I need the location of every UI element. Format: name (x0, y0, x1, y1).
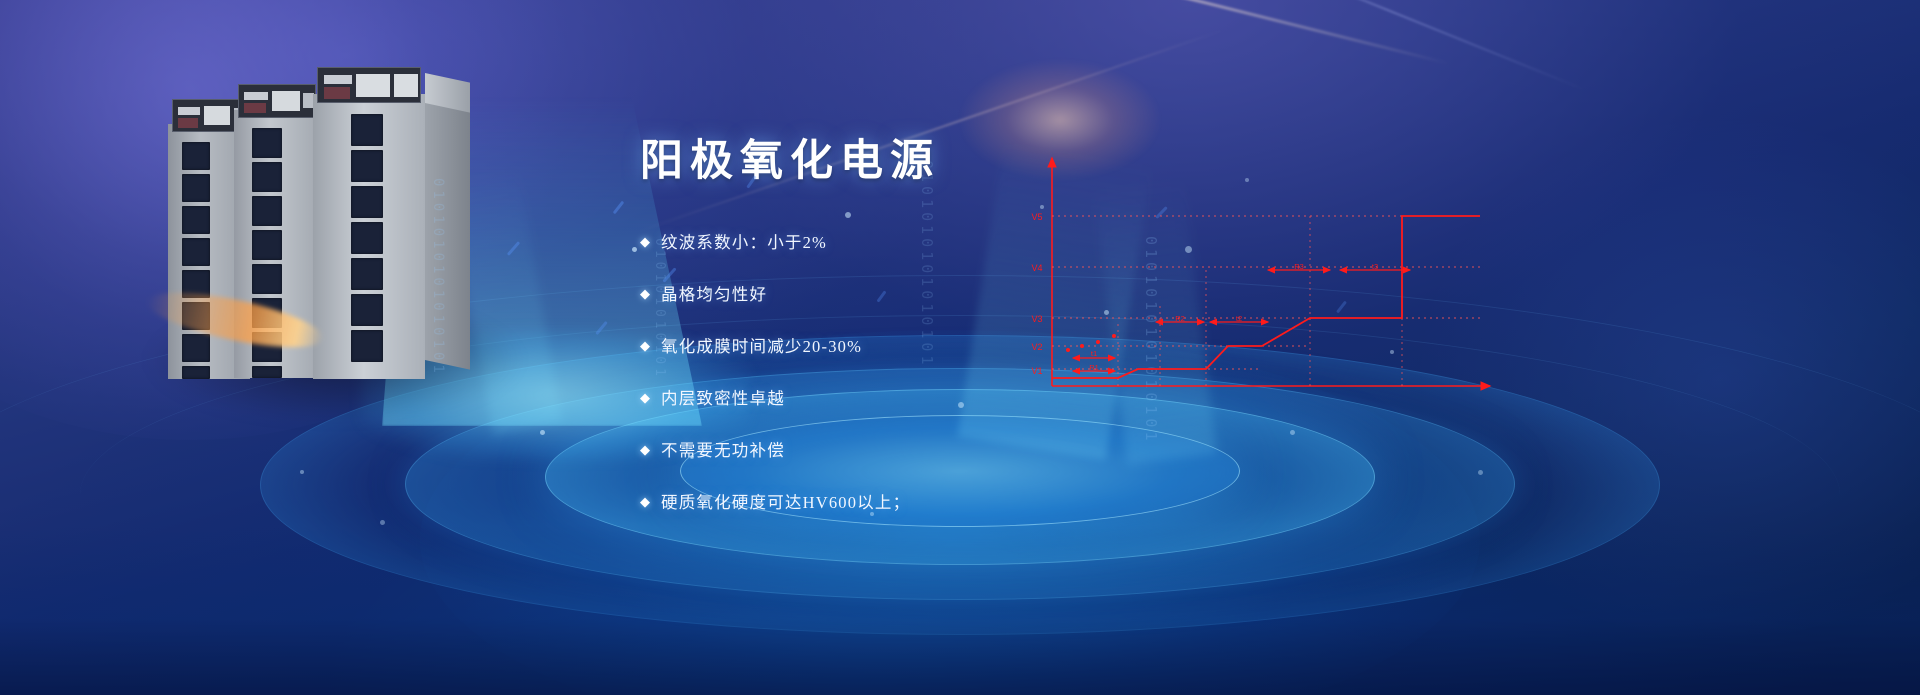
vent-grill (351, 330, 383, 362)
vent-grill (351, 258, 383, 290)
chart-dim-t1: t1 (1073, 349, 1115, 358)
label-plate (356, 74, 390, 97)
vent-grill (252, 162, 282, 192)
diamond-bullet-icon: ◆ (640, 443, 650, 456)
list-item: ◆ 晶格均匀性好 (640, 281, 1070, 305)
chart-label-r2: R2 (1175, 314, 1185, 323)
chart-ytick-v1: V1 (1031, 366, 1042, 376)
vent-grill (182, 334, 210, 362)
feature-text: 不需要无功补偿 (661, 437, 785, 461)
list-item: ◆ 硬质氧化硬度可达HV600以上； (640, 489, 1070, 513)
chart-ytick-v5: V5 (1031, 212, 1042, 222)
chart-waveform-series (1052, 216, 1480, 378)
banner-stage: 0101010101010101 0101010101010101 010101… (0, 0, 1920, 695)
control-panel (317, 67, 421, 103)
product-image (168, 84, 478, 384)
vent-grill (351, 222, 383, 254)
chart-label-t1: t1 (1091, 349, 1097, 358)
label-plate (394, 74, 418, 97)
feature-text: 氧化成膜时间减少20-30% (661, 333, 862, 357)
vent-grill (182, 366, 210, 379)
text-block: 阳极氧化电源 ◆ 纹波系数小：小于2% ◆ 晶格均匀性好 ◆ 氧化成膜时间减少2… (640, 138, 1070, 541)
page-title: 阳极氧化电源 (640, 138, 1070, 185)
list-item: ◆ 不需要无功补偿 (640, 437, 1070, 461)
particle (1290, 430, 1295, 435)
display-screen (244, 92, 268, 100)
chart-ytick-v3: V3 (1031, 314, 1042, 324)
chart-dim-r3: R3 (1268, 262, 1330, 271)
diamond-bullet-icon: ◆ (640, 495, 650, 508)
light-streak (711, 0, 1449, 65)
vent-grill (252, 264, 282, 294)
light-streak (1195, 0, 1585, 91)
particle (1478, 470, 1483, 475)
particle (380, 520, 385, 525)
vent-grill (182, 142, 210, 170)
diamond-bullet-icon: ◆ (640, 391, 650, 404)
chart-gridlines (1052, 216, 1480, 369)
cabinet-side-face (425, 100, 470, 370)
keypad (244, 103, 266, 113)
vent-grill (351, 114, 383, 146)
vent-grill (351, 186, 383, 218)
feature-list: ◆ 纹波系数小：小于2% ◆ 晶格均匀性好 ◆ 氧化成膜时间减少20-30% ◆… (640, 229, 1070, 513)
chart-label-r1: R1 (1089, 363, 1099, 372)
particle (632, 247, 637, 252)
vent-grill (182, 238, 210, 266)
label-plate (272, 91, 300, 111)
chart-dim-t3: t3 (1340, 262, 1410, 271)
list-item: ◆ 内层致密性卓越 (640, 385, 1070, 409)
vent-grill (252, 128, 282, 158)
chart-label-r3: R3 (1294, 262, 1304, 271)
cabinet-right (313, 94, 425, 379)
vent-grill (182, 174, 210, 202)
particle-dash (613, 201, 625, 215)
diamond-bullet-icon: ◆ (640, 287, 650, 300)
feature-text: 纹波系数小：小于2% (661, 229, 827, 253)
list-item: ◆ 氧化成膜时间减少20-30% (640, 333, 1070, 357)
chart-gridlines-vertical (1118, 216, 1402, 386)
chart-label-t2: t2 (1236, 314, 1242, 323)
particle-dash (507, 241, 520, 256)
diamond-bullet-icon: ◆ (640, 235, 650, 248)
label-plate (204, 106, 230, 125)
floor-gradient (0, 525, 1920, 695)
feature-text: 晶格均匀性好 (661, 281, 767, 305)
list-item: ◆ 纹波系数小：小于2% (640, 229, 1070, 253)
vent-grill (351, 294, 383, 326)
feature-text: 内层致密性卓越 (661, 385, 785, 409)
voltage-ramp-chart: V5 V4 V3 V2 V1 t1 R1 R2 t2 (1010, 150, 1510, 400)
keypad (324, 87, 350, 99)
vent-grill (252, 230, 282, 260)
display-screen (178, 107, 200, 115)
feature-text: 硬质氧化硬度可达HV600以上； (661, 489, 910, 513)
chart-dim-r1: R1 (1073, 363, 1115, 372)
particle (300, 470, 304, 474)
keypad (178, 118, 198, 128)
vent-grill (351, 150, 383, 182)
display-screen (324, 75, 352, 84)
control-panel (238, 84, 316, 118)
particle (540, 430, 545, 435)
particle-dash (595, 321, 608, 335)
vent-grill (182, 206, 210, 234)
vent-grill (252, 366, 282, 378)
chart-ytick-v4: V4 (1031, 263, 1042, 273)
vent-grill (252, 196, 282, 226)
diamond-bullet-icon: ◆ (640, 339, 650, 352)
chart-dim-t2: t2 (1210, 314, 1268, 323)
chart-ytick-v2: V2 (1031, 342, 1042, 352)
chart-label-t3: t3 (1372, 262, 1378, 271)
